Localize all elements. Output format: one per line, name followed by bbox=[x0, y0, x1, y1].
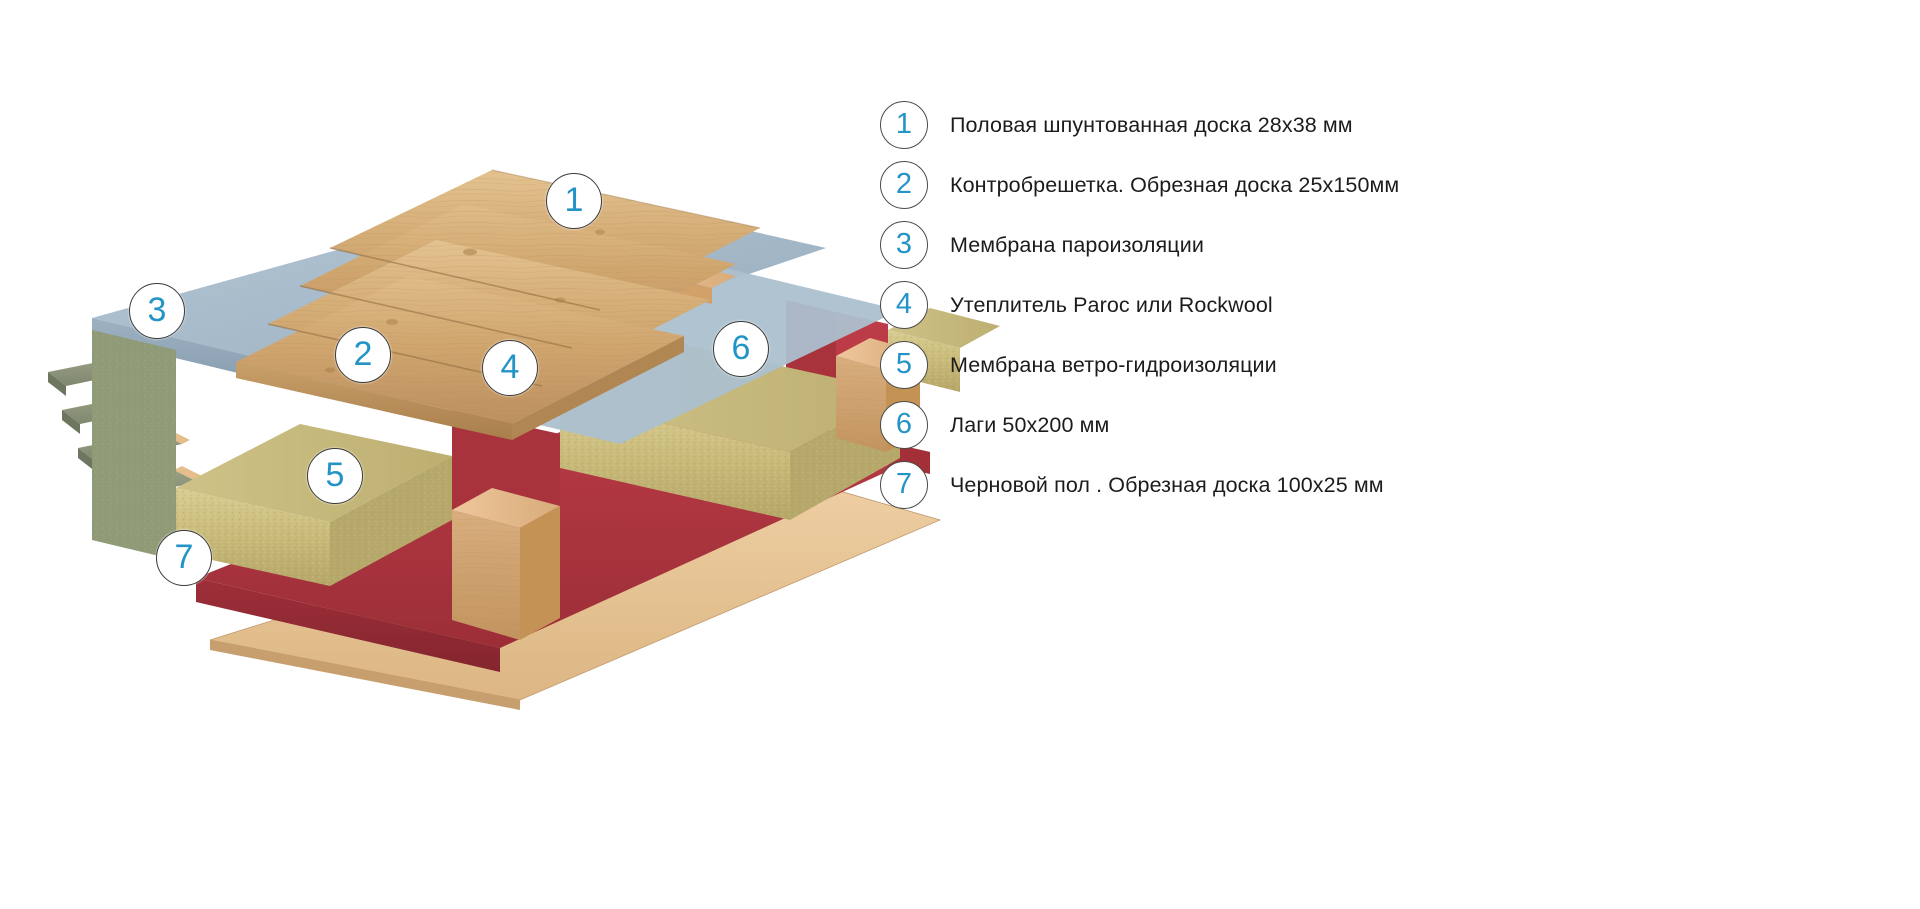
legend-marker-2: 2 bbox=[880, 161, 928, 209]
legend-item-3[interactable]: 3 Мембрана пароизоляции bbox=[880, 215, 1860, 275]
legend-marker-1: 1 bbox=[880, 101, 928, 149]
callout-number-4: 4 bbox=[501, 350, 520, 386]
callout-marker-3[interactable]: 3 bbox=[129, 283, 185, 339]
callout-number-5: 5 bbox=[326, 458, 345, 494]
legend-list: 1 Половая шпунтованная доска 28x38 мм 2 … bbox=[880, 95, 1860, 515]
legend-item-2[interactable]: 2 Контробрешетка. Обрезная доска 25x150м… bbox=[880, 155, 1860, 215]
legend-item-1[interactable]: 1 Половая шпунтованная доска 28x38 мм bbox=[880, 95, 1860, 155]
legend-label-7: Черновой пол . Обрезная доска 100х25 мм bbox=[950, 473, 1384, 498]
callout-marker-7[interactable]: 7 bbox=[156, 530, 212, 586]
legend-label-6: Лаги 50х200 мм bbox=[950, 413, 1109, 438]
legend-number-7: 7 bbox=[896, 470, 912, 501]
callout-number-3: 3 bbox=[148, 293, 167, 329]
callout-number-2: 2 bbox=[354, 337, 373, 373]
legend-label-2: Контробрешетка. Обрезная доска 25x150мм bbox=[950, 173, 1399, 198]
legend-item-5[interactable]: 5 Мембрана ветро-гидроизоляции bbox=[880, 335, 1860, 395]
legend-marker-4: 4 bbox=[880, 281, 928, 329]
callout-number-6: 6 bbox=[732, 331, 751, 367]
legend-number-6: 6 bbox=[896, 410, 912, 441]
callout-number-1: 1 bbox=[565, 183, 584, 219]
legend-item-7[interactable]: 7 Черновой пол . Обрезная доска 100х25 м… bbox=[880, 455, 1860, 515]
legend-number-2: 2 bbox=[896, 170, 912, 201]
legend-item-4[interactable]: 4 Утеплитель Paroc или Rockwool bbox=[880, 275, 1860, 335]
legend-marker-5: 5 bbox=[880, 341, 928, 389]
legend-label-1: Половая шпунтованная доска 28x38 мм bbox=[950, 113, 1353, 138]
legend-marker-6: 6 bbox=[880, 401, 928, 449]
legend-number-1: 1 bbox=[896, 110, 912, 141]
callout-marker-2[interactable]: 2 bbox=[335, 327, 391, 383]
callout-marker-4[interactable]: 4 bbox=[482, 340, 538, 396]
legend-item-6[interactable]: 6 Лаги 50х200 мм bbox=[880, 395, 1860, 455]
callout-marker-5[interactable]: 5 bbox=[307, 448, 363, 504]
legend-marker-7: 7 bbox=[880, 461, 928, 509]
callout-number-7: 7 bbox=[175, 540, 194, 576]
legend-label-4: Утеплитель Paroc или Rockwool bbox=[950, 293, 1273, 318]
legend-number-5: 5 bbox=[896, 350, 912, 381]
callout-marker-1[interactable]: 1 bbox=[546, 173, 602, 229]
callout-marker-6[interactable]: 6 bbox=[713, 321, 769, 377]
legend-marker-3: 3 bbox=[880, 221, 928, 269]
legend-label-5: Мембрана ветро-гидроизоляции bbox=[950, 353, 1277, 378]
legend-label-3: Мембрана пароизоляции bbox=[950, 233, 1204, 258]
legend-number-4: 4 bbox=[896, 290, 912, 321]
legend-number-3: 3 bbox=[896, 230, 912, 261]
